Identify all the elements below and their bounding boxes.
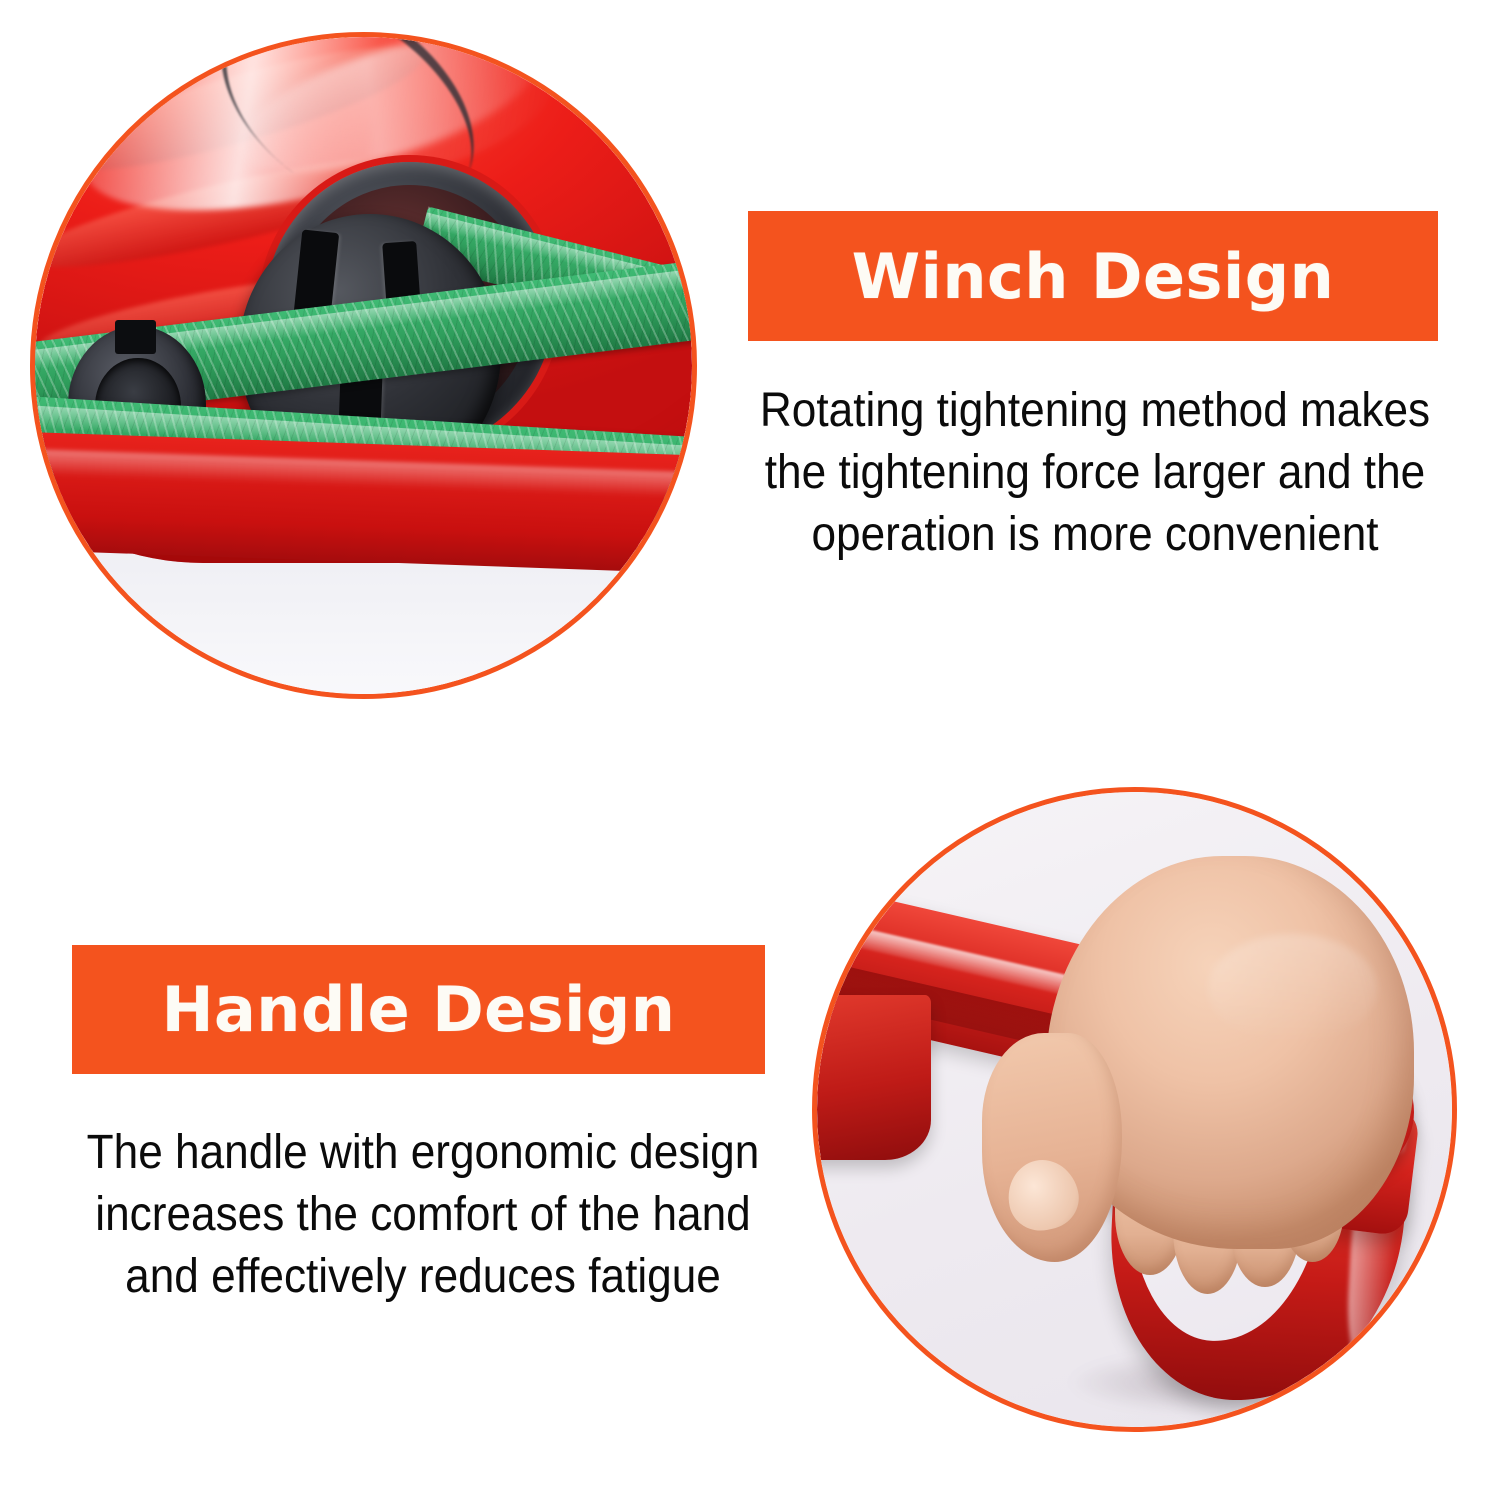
winch-photo-circle bbox=[30, 32, 697, 699]
handle-bar-foot bbox=[817, 995, 931, 1160]
winch-table-surface bbox=[35, 549, 692, 694]
winch-description-text: Rotating tightening method makes the tig… bbox=[732, 380, 1459, 566]
handle-photo-circle bbox=[812, 787, 1457, 1432]
winch-base-highlight bbox=[35, 446, 692, 502]
infographic-page: Winch Design Rotating tightening method … bbox=[0, 0, 1500, 1500]
handle-photo-inner bbox=[817, 792, 1452, 1427]
handle-heading-label: Handle Design bbox=[162, 973, 676, 1046]
handle-knuckle-highlight bbox=[1208, 934, 1377, 1044]
handle-description-text: The handle with ergonomic design increas… bbox=[60, 1122, 787, 1308]
handle-heading-banner: Handle Design bbox=[72, 945, 765, 1074]
winch-heading-label: Winch Design bbox=[852, 240, 1334, 313]
winch-heading-banner: Winch Design bbox=[748, 211, 1438, 341]
winch-photo-inner bbox=[35, 37, 692, 694]
winch-roller-notch bbox=[115, 320, 156, 355]
